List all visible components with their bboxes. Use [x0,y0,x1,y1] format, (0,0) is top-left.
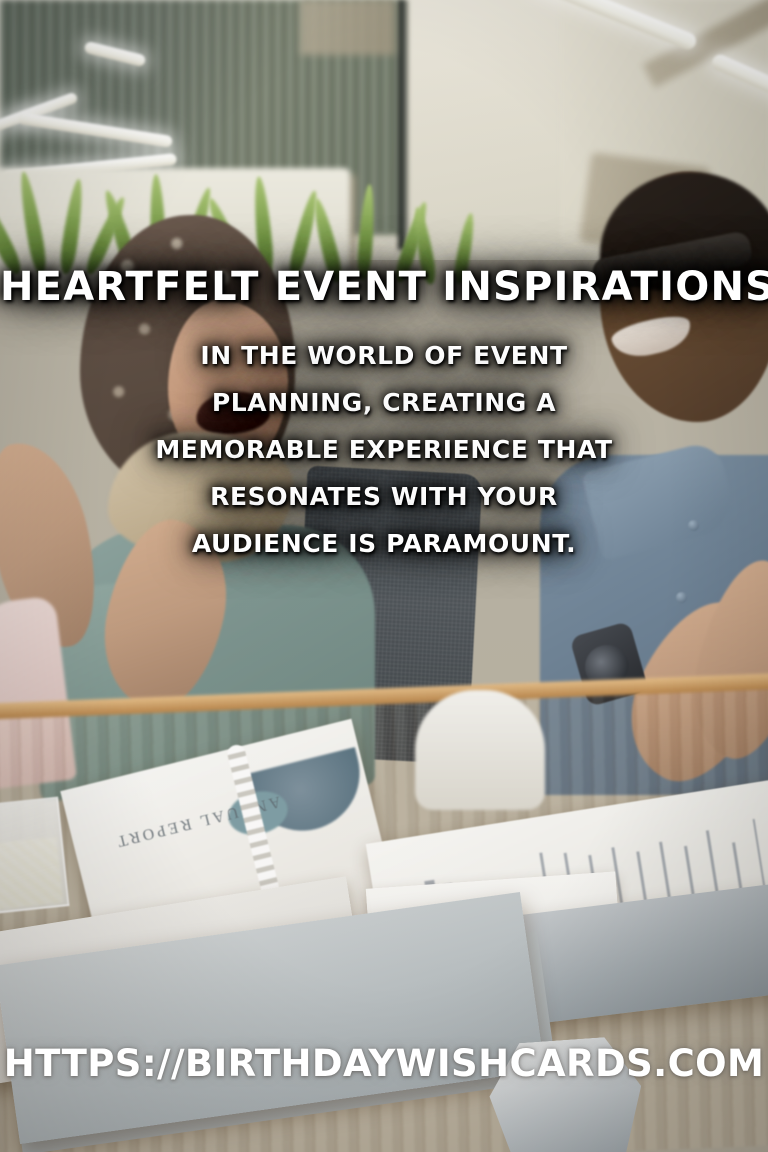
text-overlay: Heartfelt Event Inspirations In the worl… [0,0,768,1152]
website-url[interactable]: https://birthdaywishcards.com [0,1042,768,1086]
poster-subtitle: In the world of event planning, creating… [150,332,618,567]
poster-canvas: ANNUAL REPORT [0,0,768,1152]
poster-title: Heartfelt Event Inspirations [0,264,768,310]
